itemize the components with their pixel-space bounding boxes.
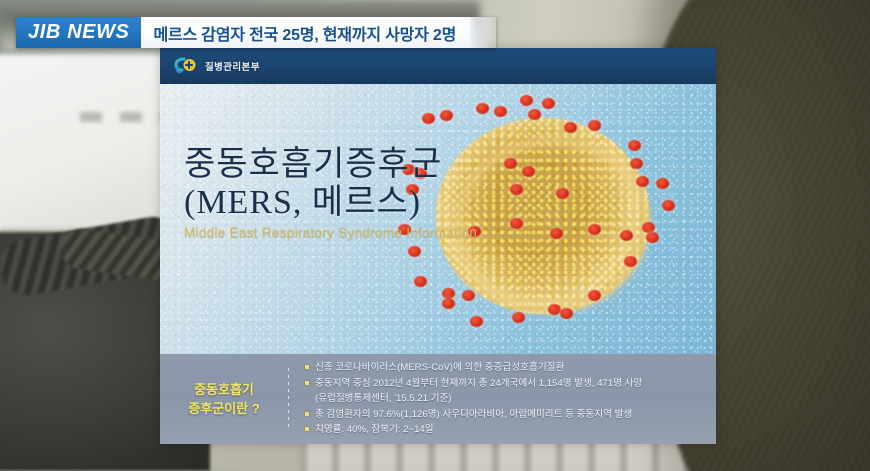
virus-spike (662, 200, 675, 211)
virus-spike (628, 140, 641, 151)
virus-spike (510, 184, 523, 195)
slide-subtitle-english: Middle East Respiratory Syndrome Informa… (184, 225, 477, 240)
kcdc-logo-icon (174, 56, 198, 76)
virus-spike (560, 308, 573, 319)
bullet-item: 치명률: 40%, 잠복기: 2~14일 (305, 422, 706, 438)
question-line-1: 중동호흡기 (160, 380, 288, 400)
bullet-marker-icon (305, 365, 309, 369)
virus-spike (556, 188, 569, 199)
bullet-text: 신종 코로나바이러스(MERS-CoV)에 의한 중증급성호흡기질환 (315, 360, 564, 376)
bullet-item: 신종 코로나바이러스(MERS-CoV)에 의한 중증급성호흡기질환 (305, 360, 706, 376)
bullet-item-sub: (유럽질병통제센터, '15.5.21 기준) (305, 391, 706, 407)
bullet-text: 치명률: 40%, 잠복기: 2~14일 (315, 422, 434, 438)
info-panel-question: 중동호흡기 증후군이란 ? (160, 380, 288, 419)
virus-inner-ring (454, 136, 650, 314)
virus-spike (528, 109, 541, 120)
news-broadcast-frame: 질병관리본부 (0, 0, 870, 471)
virus-spike (656, 178, 669, 189)
bullet-item: 총 감염환자의 97.6%(1,126명) 사우디아라비아, 아랍에미리트 등 … (305, 407, 706, 423)
slide-info-panel: 중동호흡기 증후군이란 ? 신종 코로나바이러스(MERS-CoV)에 의한 중… (160, 354, 716, 444)
channel-logo: JIB NEWS (16, 17, 141, 48)
virus-spike (550, 228, 563, 239)
virus-spike (408, 246, 421, 257)
virus-spike (636, 176, 649, 187)
bullet-marker-icon (305, 381, 309, 385)
question-line-2: 증후군이란 ? (160, 399, 288, 419)
bullet-text: 중동지역 중심 2012년 4월부터 현재까지 총 24개국에서 1,154명 … (315, 376, 642, 392)
virus-spike (504, 158, 517, 169)
banner-fade-edge (470, 17, 496, 48)
virus-spike (588, 290, 601, 301)
virus-spike (520, 95, 533, 106)
slide-content: 중동호흡기증후군 (MERS, 메르스) Middle East Respira… (160, 84, 716, 354)
virus-spike (522, 166, 535, 177)
virus-spike (462, 290, 475, 301)
slide-title-korean-line2: (MERS, 메르스) (184, 184, 477, 222)
news-headline: 메르스 감염자 전국 25명, 현재까지 사망자 2명 (141, 17, 470, 48)
virus-spike (588, 224, 601, 235)
virus-spike (442, 298, 455, 309)
bullet-text: (유럽질병통제센터, '15.5.21 기준) (315, 391, 452, 407)
virus-spike (422, 113, 435, 124)
info-panel-bullet-list: 신종 코로나바이러스(MERS-CoV)에 의한 중증급성호흡기질환 중동지역 … (289, 360, 716, 438)
virus-spike (470, 316, 483, 327)
virus-spike (512, 312, 525, 323)
virus-spike (624, 256, 637, 267)
virus-spike (620, 230, 633, 241)
virus-spike (564, 122, 577, 133)
bullet-marker-icon (305, 412, 309, 416)
virus-spike (414, 276, 427, 287)
virus-spike (476, 103, 489, 114)
bullet-text: 총 감염환자의 97.6%(1,126명) 사우디아라비아, 아랍에미리트 등 … (315, 407, 632, 423)
virus-spike (630, 158, 643, 169)
presentation-screen: 질병관리본부 (160, 48, 716, 444)
virus-spike (646, 232, 659, 243)
virus-spike (510, 218, 523, 229)
virus-spike (588, 120, 601, 131)
bullet-marker-icon (305, 427, 309, 431)
organization-name: 질병관리본부 (205, 59, 260, 73)
bullet-item: 중동지역 중심 2012년 4월부터 현재까지 총 24개국에서 1,154명 … (305, 376, 706, 392)
slide-title-korean: 중동호흡기증후군 (184, 146, 477, 184)
virus-spike (494, 106, 507, 117)
news-lower-third-banner: JIB NEWS 메르스 감염자 전국 25명, 현재까지 사망자 2명 (16, 17, 496, 48)
virus-spike (440, 110, 453, 121)
slide-header-bar: 질병관리본부 (160, 48, 716, 84)
virus-spike (542, 98, 555, 109)
slide-title-block: 중동호흡기증후군 (MERS, 메르스) Middle East Respira… (184, 146, 477, 242)
